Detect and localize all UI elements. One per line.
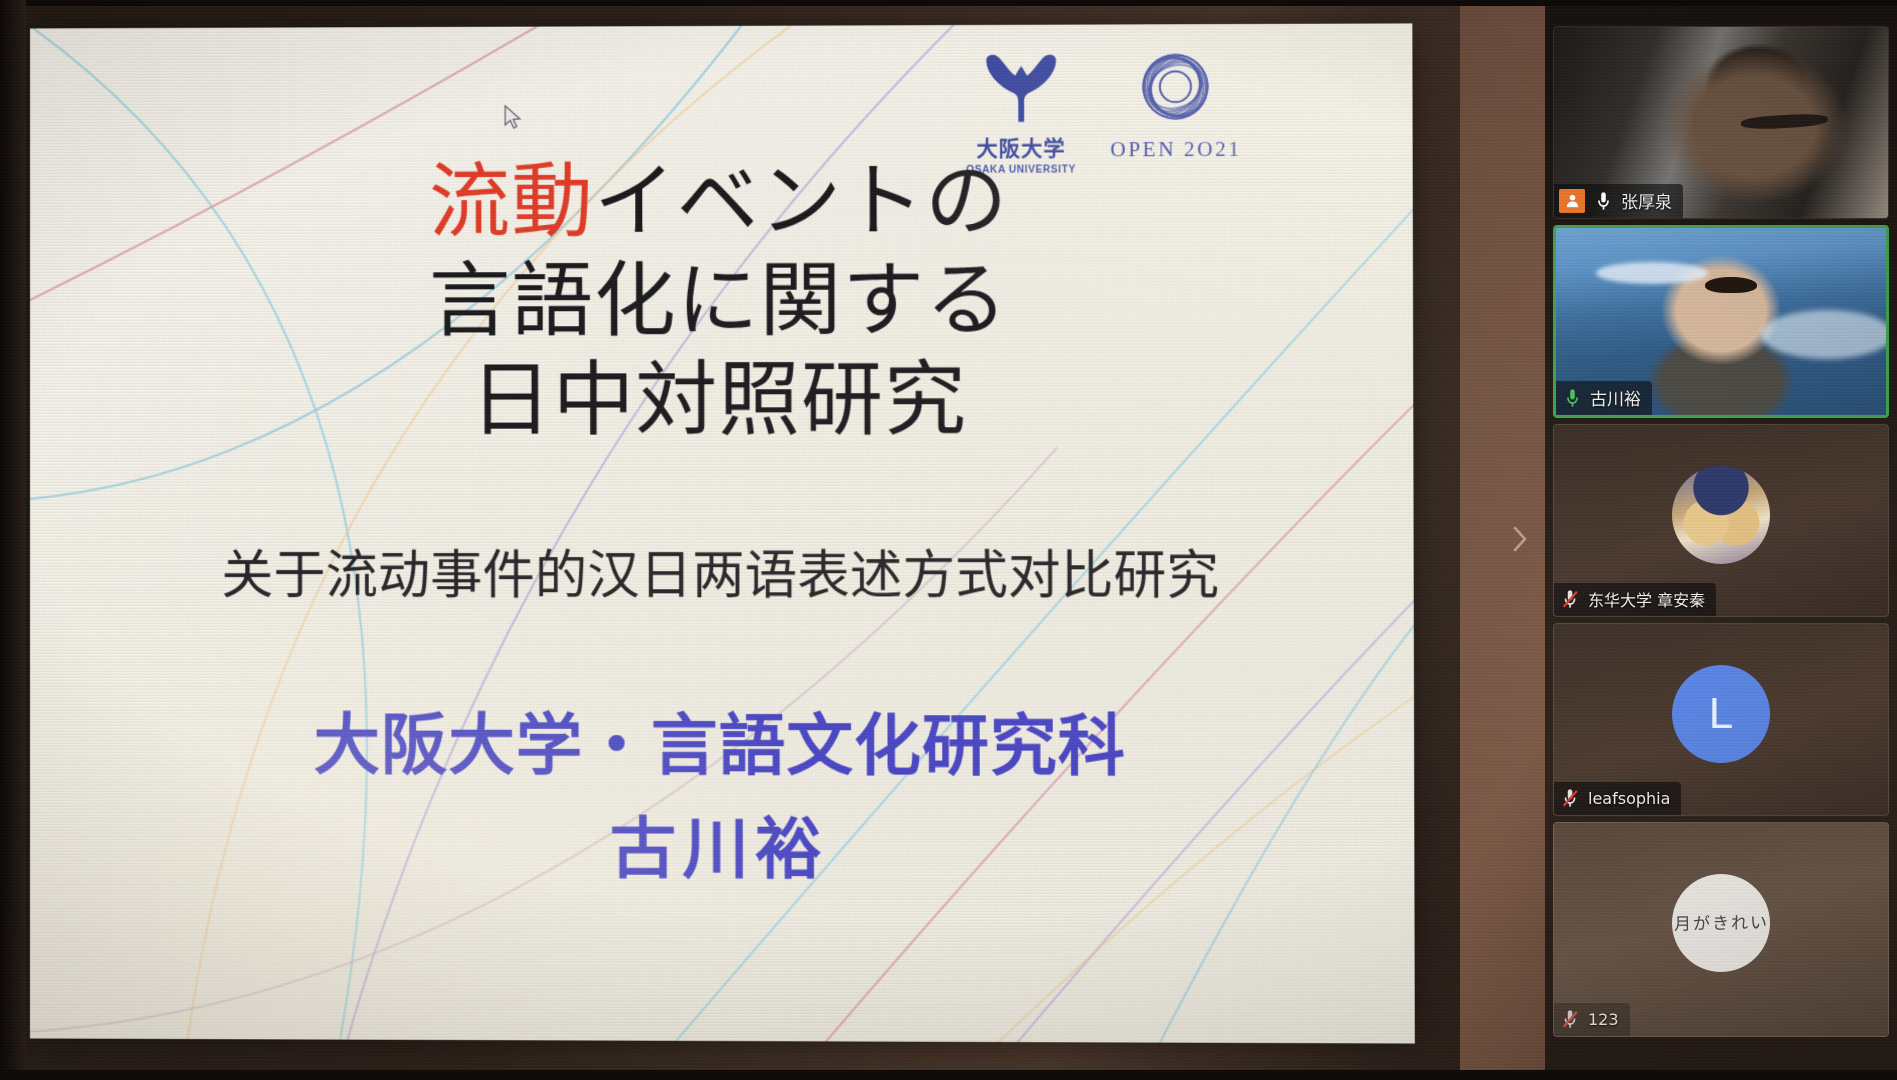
slide-subtitle-chinese: 关于流动事件的汉日两语表述方式对比研究 — [30, 533, 1414, 609]
participant-tile[interactable]: 月がきれい 123 — [1553, 822, 1889, 1037]
participant-label: 东华大学 章安秦 — [1554, 583, 1716, 616]
participant-name: 古川裕 — [1590, 385, 1641, 410]
participant-label: 123 — [1554, 1003, 1630, 1036]
participant-name: 东华大学 章安秦 — [1588, 587, 1705, 611]
participant-name: leafsophia — [1588, 789, 1670, 808]
title-line-1-rest: イベントの — [594, 154, 1008, 249]
monitor-bezel-bottom — [0, 1070, 1897, 1080]
microphone-muted-icon — [1559, 786, 1581, 810]
avatar — [1672, 466, 1770, 564]
title-highlight-word: 流動 — [429, 155, 594, 250]
microphone-muted-icon — [1559, 1007, 1581, 1031]
participant-label: 古川裕 — [1556, 381, 1652, 415]
monitor-bezel-top — [0, 0, 1897, 6]
avatar-handwritten-text: 月がきれい — [1673, 908, 1768, 935]
photographed-screen: 大阪大学 OSAKA UNIVERSITY — [0, 0, 1897, 1080]
participant-tile[interactable]: 张厚泉 — [1553, 26, 1889, 219]
avatar-initial: L — [1709, 689, 1733, 739]
chevron-right-icon[interactable] — [1510, 524, 1530, 554]
slide-title: 流動イベントの 言語化に関する 日中対照研究 — [30, 150, 1413, 450]
screen-share-stage[interactable]: 大阪大学 OSAKA UNIVERSITY — [0, 0, 1460, 1080]
presenter-affiliation: 大阪大学・言語文化研究科 — [30, 700, 1414, 792]
participant-filmstrip[interactable]: 张厚泉 古川 — [1545, 0, 1897, 1080]
title-line-2: 言語化に関する — [30, 250, 1413, 352]
presentation-slide[interactable]: 大阪大学 OSAKA UNIVERSITY — [30, 23, 1415, 1043]
participant-tile[interactable]: 古川裕 — [1553, 225, 1889, 418]
participant-tile[interactable]: 东华大学 章安秦 — [1553, 424, 1889, 617]
microphone-icon — [1561, 386, 1583, 410]
osaka-university-logo-icon — [972, 45, 1069, 132]
host-icon — [1559, 189, 1585, 213]
participant-name: 123 — [1588, 1010, 1619, 1029]
slide-presenter-block: 大阪大学・言語文化研究科 古川裕 — [30, 700, 1414, 896]
participant-label: leafsophia — [1554, 782, 1681, 815]
microphone-icon — [1592, 189, 1614, 213]
avatar: 月がきれい — [1672, 874, 1770, 972]
presenter-name: 古川裕 — [30, 803, 1414, 896]
participant-name: 张厚泉 — [1621, 188, 1672, 213]
participant-tile[interactable]: L leafsophia — [1553, 623, 1889, 816]
monitor-bezel-left — [0, 0, 26, 1080]
open-2021-spiral-logo-icon — [1127, 44, 1225, 131]
title-line-3: 日中対照研究 — [30, 350, 1413, 451]
participant-label: 张厚泉 — [1554, 184, 1683, 218]
zoom-meeting-window: 大阪大学 OSAKA UNIVERSITY — [0, 0, 1897, 1080]
mouse-pointer-arrow-icon — [503, 105, 523, 133]
title-line-1: 流動イベントの — [30, 150, 1413, 253]
open-2021-logo-block: OPEN 2O21 — [1110, 44, 1242, 162]
microphone-muted-icon — [1559, 587, 1581, 611]
avatar: L — [1672, 665, 1770, 763]
